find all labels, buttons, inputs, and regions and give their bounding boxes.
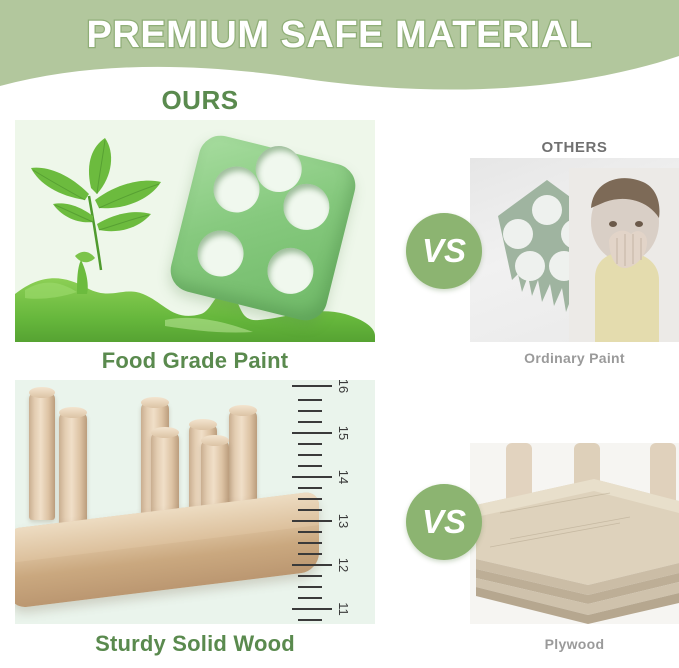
vs-badge-paint: VS: [406, 213, 482, 289]
caption-sturdy-solid-wood: Sturdy Solid Wood: [15, 631, 375, 657]
ruler-scale: 16 15 14 13 12 11: [283, 380, 353, 624]
svg-text:15: 15: [336, 426, 351, 440]
svg-text:13: 13: [336, 514, 351, 528]
page-title: PREMIUM SAFE MATERIAL: [0, 14, 679, 57]
svg-text:12: 12: [336, 558, 351, 572]
panel-ours-wood: 16 15 14 13 12 11: [15, 380, 375, 624]
wood-peg: [29, 392, 55, 520]
caption-food-grade-paint: Food Grade Paint: [15, 348, 375, 374]
panel-others-paint: [470, 158, 679, 342]
header-banner: PREMIUM SAFE MATERIAL: [0, 0, 679, 92]
tea-leaves-icon: [23, 138, 193, 288]
svg-text:14: 14: [336, 470, 351, 484]
solid-wood-toy: 16 15 14 13 12 11: [15, 380, 375, 624]
plywood-base-photo: [470, 443, 679, 624]
caption-ordinary-paint: Ordinary Paint: [470, 350, 679, 366]
panel-ours-paint: [15, 120, 375, 342]
svg-text:16: 16: [336, 380, 351, 393]
panel-others-wood: [470, 443, 679, 624]
svg-text:11: 11: [336, 602, 351, 616]
label-others: OTHERS: [470, 139, 679, 156]
child-photo: [569, 168, 679, 342]
label-ours: OURS: [0, 85, 400, 116]
vs-badge-wood: VS: [406, 484, 482, 560]
caption-plywood: Plywood: [470, 636, 679, 652]
wood-peg: [59, 412, 87, 534]
